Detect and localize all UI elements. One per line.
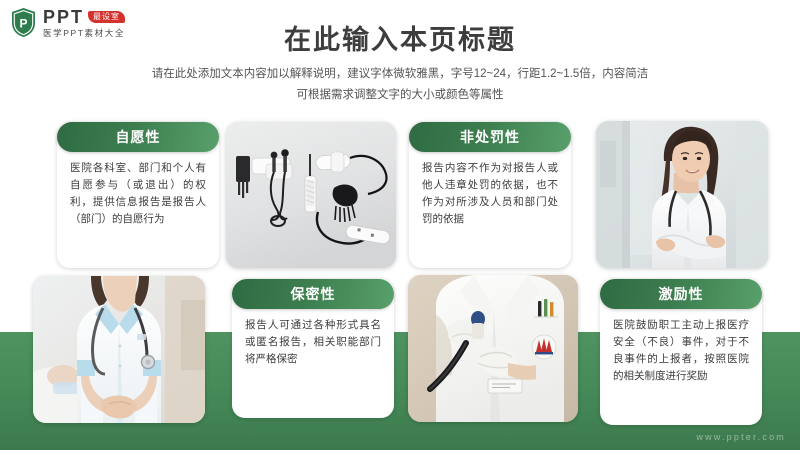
card-body-non-punitive: 报告内容不作为对报告人或他人违章处罚的依据，也不作为对所涉及人员和部门处罚的依据 (409, 152, 571, 238)
shield-icon: P (10, 7, 37, 38)
card-banner-confidential: 保密性 (232, 279, 394, 309)
subtitle-line-2: 可根据需求调整文字的大小或颜色等属性 (0, 85, 800, 106)
svg-text:P: P (19, 17, 27, 31)
logo-subtitle: 医学PPT素材大全 (43, 29, 125, 38)
brand-logo[interactable]: P PPT 最设室 医学PPT素材大全 (10, 7, 125, 38)
subtitle-line-1: 请在此处添加文本内容加以解释说明，建议字体微软雅黑，字号12~24，行距1.2~… (0, 64, 800, 85)
card-banner-non-punitive: 非处罚性 (409, 122, 571, 152)
slide-root: P PPT 最设室 医学PPT素材大全 在此输入本页标题 请在此处添加文本内容加… (0, 0, 800, 450)
card-voluntary[interactable]: 自愿性 医院各科室、部门和个人有自愿参与（或退出）的权利，提供信息报告是报告人（… (57, 122, 219, 268)
logo-brand-text: PPT (43, 8, 84, 26)
card-confidential[interactable]: 保密性 报告人可通过各种形式具名或匿名报告，相关职能部门将严格保密 (232, 279, 394, 418)
card-incentive[interactable]: 激励性 医院鼓励职工主动上报医疗安全（不良）事件，对于不良事件的上报者，按照医院… (600, 279, 762, 425)
footer-watermark: www.ppter.com (696, 432, 786, 442)
logo-badge: 最设室 (88, 11, 125, 23)
card-non-punitive[interactable]: 非处罚性 报告内容不作为对报告人或他人违章处罚的依据，也不作为对所涉及人员和部门… (409, 122, 571, 268)
card-banner-voluntary: 自愿性 (57, 122, 219, 152)
card-banner-incentive: 激励性 (600, 279, 762, 309)
card-title-incentive: 激励性 (659, 284, 704, 304)
page-subtitle: 请在此处添加文本内容加以解释说明，建议字体微软雅黑，字号12~24，行距1.2~… (0, 64, 800, 107)
card-body-confidential: 报告人可通过各种形式具名或匿名报告，相关职能部门将严格保密 (232, 309, 394, 378)
card-title-voluntary: 自愿性 (116, 127, 161, 147)
photo-female-doctor-portrait (596, 121, 768, 268)
photo-nurse-uniform (33, 276, 205, 423)
photo-wall-diagnostic-equipment (226, 122, 396, 268)
card-title-non-punitive: 非处罚性 (460, 127, 520, 147)
card-title-confidential: 保密性 (291, 284, 336, 304)
card-body-voluntary: 医院各科室、部门和个人有自愿参与（或退出）的权利，提供信息报告是报告人（部门）的… (57, 152, 219, 238)
photo-doctor-gloves-equipment (408, 275, 578, 422)
card-body-incentive: 医院鼓励职工主动上报医疗安全（不良）事件，对于不良事件的上报者，按照医院的相关制… (600, 309, 762, 395)
